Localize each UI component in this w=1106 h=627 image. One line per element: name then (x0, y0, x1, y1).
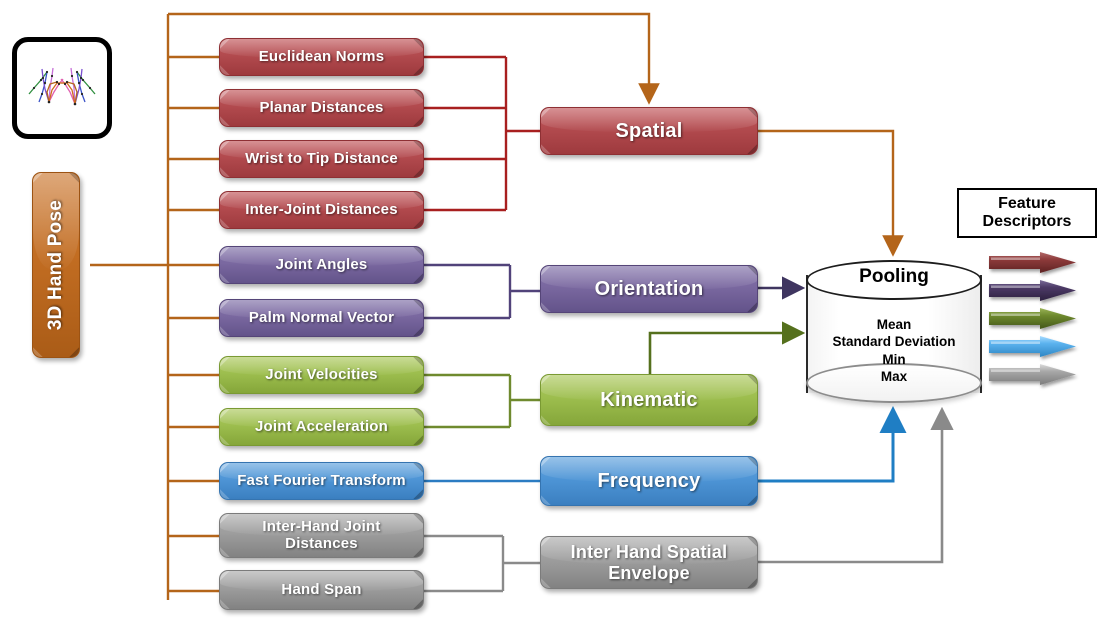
pooling-stat-mean: Mean (806, 316, 982, 333)
feature-node-label: Wrist to Tip Distance (237, 151, 406, 168)
feature-node-palm-normal-vector[interactable]: Palm Normal Vector (219, 299, 424, 337)
category-node-frequency[interactable]: Frequency (540, 456, 758, 506)
feature-node-label: Euclidean Norms (251, 49, 393, 66)
category-node-kinematic[interactable]: Kinematic (540, 374, 758, 426)
pooling-stat-min: Min (806, 351, 982, 368)
feature-node-label: Fast Fourier Transform (229, 473, 414, 490)
feature-node-label: Joint Velocities (257, 367, 385, 384)
feature-node-label: Joint Angles (268, 257, 376, 274)
pooling-title: Pooling (806, 266, 982, 288)
feature-node-inter-joint-distances[interactable]: Inter-Joint Distances (219, 191, 424, 229)
category-node-label: Inter Hand Spatial Envelope (541, 542, 757, 582)
feature-descriptors-line2: Descriptors (983, 213, 1072, 231)
feature-node-label: Palm Normal Vector (241, 310, 402, 327)
feature-node-fast-fourier-transform[interactable]: Fast Fourier Transform (219, 462, 424, 500)
descriptor-arrow-interhand (989, 364, 1076, 385)
category-node-label: Spatial (608, 120, 691, 142)
diagram-canvas: 3D Hand Pose Euclidean Norms Planar Dist… (0, 0, 1106, 627)
pooling-stat-max: Max (806, 368, 982, 385)
category-node-label: Orientation (587, 278, 712, 300)
feature-node-label: Inter-Hand Joint Distances (220, 519, 423, 553)
source-node-3d-hand-pose[interactable]: 3D Hand Pose (32, 172, 80, 358)
feature-node-wrist-to-tip-distance[interactable]: Wrist to Tip Distance (219, 140, 424, 178)
feature-node-label: Joint Acceleration (247, 419, 396, 436)
category-node-spatial[interactable]: Spatial (540, 107, 758, 155)
feature-descriptors-label-box: Feature Descriptors (957, 188, 1097, 238)
category-node-inter-hand-spatial-envelope[interactable]: Inter Hand Spatial Envelope (540, 536, 758, 589)
descriptor-arrow-orientation (989, 280, 1076, 301)
pooling-stat-stddev: Standard Deviation (806, 333, 982, 350)
category-node-label: Frequency (590, 470, 709, 492)
pooling-cylinder[interactable]: Pooling Mean Standard Deviation Min Max (806, 260, 982, 408)
feature-node-label: Hand Span (273, 582, 369, 599)
source-node-label: 3D Hand Pose (37, 200, 74, 330)
feature-node-label: Inter-Joint Distances (237, 202, 406, 219)
descriptor-arrow-frequency (989, 336, 1076, 357)
feature-node-hand-span[interactable]: Hand Span (219, 570, 424, 610)
pooling-stats-list: Mean Standard Deviation Min Max (806, 316, 982, 385)
descriptor-arrow-kinematic (989, 308, 1076, 329)
feature-node-euclidean-norms[interactable]: Euclidean Norms (219, 38, 424, 76)
feature-node-joint-acceleration[interactable]: Joint Acceleration (219, 408, 424, 446)
category-node-label: Kinematic (592, 389, 705, 411)
category-node-orientation[interactable]: Orientation (540, 265, 758, 313)
feature-node-joint-velocities[interactable]: Joint Velocities (219, 356, 424, 394)
feature-node-joint-angles[interactable]: Joint Angles (219, 246, 424, 284)
feature-descriptors-line1: Feature (983, 195, 1072, 213)
feature-node-inter-hand-joint-distances[interactable]: Inter-Hand Joint Distances (219, 513, 424, 558)
feature-node-label: Planar Distances (251, 100, 391, 117)
feature-node-planar-distances[interactable]: Planar Distances (219, 89, 424, 127)
descriptor-arrow-spatial (989, 252, 1076, 273)
feature-descriptor-arrows (988, 252, 1092, 404)
